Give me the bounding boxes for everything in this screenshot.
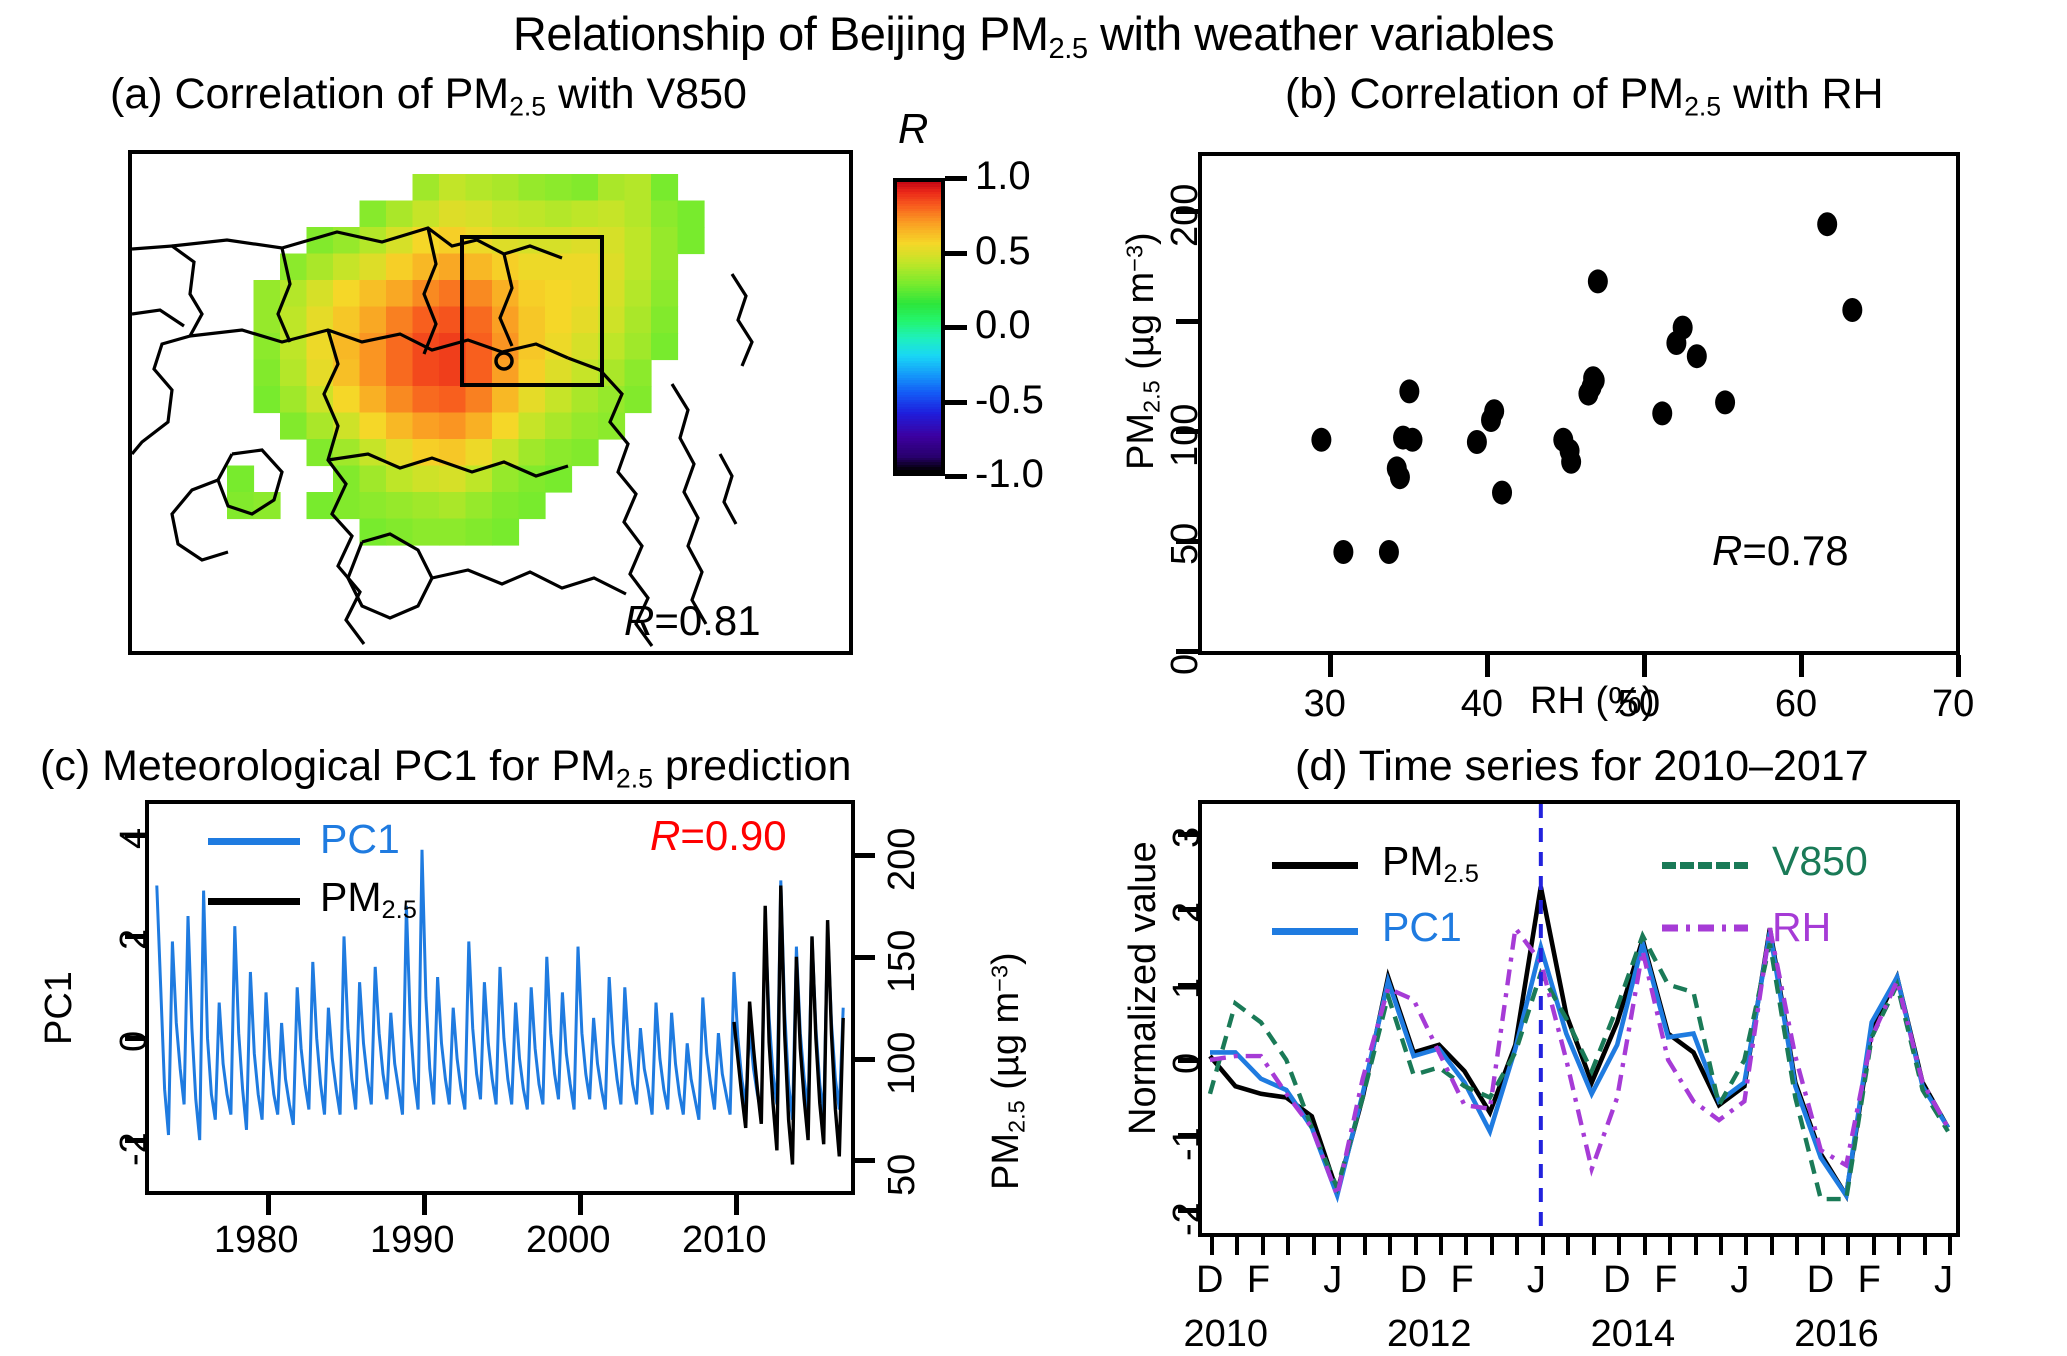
panel-c-xtick xyxy=(578,1195,583,1215)
panel-b-xtick-label: 30 xyxy=(1304,683,1346,726)
panel-d-year-label: 2016 xyxy=(1794,1313,1879,1356)
panel-c-ytick-label: 4 xyxy=(113,827,156,848)
panel-c-ylabel: PC1 xyxy=(38,971,81,1045)
panel-b-xlabel: RH (%) xyxy=(1530,680,1655,723)
panel-d-month-label: D xyxy=(1400,1259,1427,1302)
panel-d-xtick xyxy=(1770,1237,1774,1255)
panel-b-ylabel: PM2.5 (µg m−3) xyxy=(1120,232,1166,470)
panel-d-title: (d) Time series for 2010–2017 xyxy=(1295,742,1869,791)
panel-d-month-label: D xyxy=(1807,1259,1834,1302)
panel-c-y2label: PM2.5 (µg m−3) xyxy=(985,952,1031,1190)
panel-c-xtick xyxy=(422,1195,427,1215)
panel-d-month-label: F xyxy=(1247,1259,1270,1302)
panel-d-xtick xyxy=(1923,1237,1927,1255)
panel-d-month-label: F xyxy=(1450,1259,1473,1302)
figure-title-subscript: 2.5 xyxy=(1049,33,1088,65)
panel-d-month-label: J xyxy=(1934,1259,1953,1302)
panel-d-ylabel: Normalized value xyxy=(1122,841,1165,1135)
panel-d-xtick xyxy=(1668,1237,1672,1255)
panel-d-ytick-label: 3 xyxy=(1166,827,1209,848)
panel-d-xtick xyxy=(1566,1237,1570,1255)
panel-c-xtick xyxy=(734,1195,739,1215)
panel-b-xtick-label: 70 xyxy=(1932,683,1974,726)
panel-b-ytick xyxy=(1176,319,1198,324)
panel-c-ytick-label: -2 xyxy=(113,1132,156,1166)
panel-c-y2tick xyxy=(855,853,875,858)
panel-d-xtick xyxy=(1388,1237,1392,1255)
panel-c-xtick-label: 2000 xyxy=(526,1219,611,1262)
panel-d-month-label: J xyxy=(1323,1259,1342,1302)
panel-d-month-label: J xyxy=(1730,1259,1749,1302)
panel-a-map[interactable] xyxy=(128,150,853,655)
panel-a-r-annotation: R=0.81 xyxy=(624,597,761,645)
panel-b-xtick xyxy=(1328,655,1333,677)
panel-c-r-annotation: R=0.90 xyxy=(650,812,787,860)
panel-d-legend-label-pc1: PC1 xyxy=(1382,904,1462,951)
colorbar-tick xyxy=(945,400,967,405)
panel-d-xtick xyxy=(1643,1237,1647,1255)
scatter-svg xyxy=(1202,156,1956,651)
panel-d-ytick-label: -2 xyxy=(1166,1203,1209,1237)
panel-d-xtick xyxy=(1541,1237,1545,1255)
panel-d-xtick xyxy=(1210,1237,1214,1255)
panel-c-y2tick-label: 50 xyxy=(881,1154,924,1196)
panel-b-xtick-label: 60 xyxy=(1775,683,1817,726)
panel-d-month-label: F xyxy=(1654,1259,1677,1302)
panel-b-scatter[interactable] xyxy=(1198,152,1960,655)
panel-c-ytick-label: 0 xyxy=(113,1031,156,1052)
panel-d-xtick xyxy=(1464,1237,1468,1255)
panel-d-year-label: 2014 xyxy=(1591,1313,1676,1356)
panel-d-xtick xyxy=(1719,1237,1723,1255)
colorbar-tick xyxy=(945,474,967,479)
panel-d-legend-line-rh xyxy=(1662,862,1748,934)
panel-d-xtick xyxy=(1439,1237,1443,1255)
panel-b-xtick xyxy=(1642,655,1647,677)
panel-d-xtick xyxy=(1286,1237,1290,1255)
panel-d-year-label: 2012 xyxy=(1387,1313,1472,1356)
panel-c-y2tick-label: 150 xyxy=(881,929,924,992)
panel-b-xtick xyxy=(1799,655,1804,677)
panel-d-month-label: D xyxy=(1196,1259,1223,1302)
panel-b-title: (b) Correlation of PM2.5 with RH xyxy=(1285,70,1884,122)
panel-d-xtick xyxy=(1897,1237,1901,1255)
panel-d-xtick xyxy=(1795,1237,1799,1255)
colorbar-segment xyxy=(897,470,941,473)
figure-title-prefix: Relationship of Beijing PM xyxy=(513,7,1049,60)
panel-b-ytick-label: 50 xyxy=(1164,523,1207,565)
panel-d-legend-label-rh: RH xyxy=(1772,904,1831,951)
colorbar-tick-label: 1.0 xyxy=(975,154,1031,199)
panel-c-xtick-label: 1990 xyxy=(370,1219,455,1262)
panel-d-month-label: F xyxy=(1858,1259,1881,1302)
panel-d-xtick xyxy=(1490,1237,1494,1255)
panel-d-year-label: 2010 xyxy=(1183,1313,1268,1356)
panel-d-ytick-label: 1 xyxy=(1166,977,1209,998)
panel-c-xtick-label: 1980 xyxy=(214,1219,299,1262)
panel-d-legend-label-v850: V850 xyxy=(1772,838,1868,885)
panel-b-ytick-label: 0 xyxy=(1164,654,1207,675)
panel-a-title: (a) Correlation of PM2.5 with V850 xyxy=(110,70,747,122)
panel-b-xtick-label: 40 xyxy=(1461,683,1503,726)
pc1-timeseries-svg xyxy=(149,804,851,1191)
panel-d-xtick xyxy=(1872,1237,1876,1255)
colorbar-tick-label: -0.5 xyxy=(975,378,1044,423)
panel-d-month-label: D xyxy=(1603,1259,1630,1302)
panel-d-xtick xyxy=(1235,1237,1239,1255)
panel-d-xtick xyxy=(1363,1237,1367,1255)
panel-d-xtick xyxy=(1337,1237,1341,1255)
colorbar xyxy=(893,178,945,476)
panel-c-y2tick-label: 100 xyxy=(881,1031,924,1094)
panel-c-legend-label-pm25: PM2.5 xyxy=(320,874,417,925)
panel-d-xtick xyxy=(1592,1237,1596,1255)
panel-d-xtick xyxy=(1744,1237,1748,1255)
panel-d-legend-label-pm25: PM2.5 xyxy=(1382,838,1479,889)
panel-b-xtick xyxy=(1956,655,1961,677)
colorbar-tick xyxy=(945,251,967,256)
panel-c-y2tick xyxy=(855,1158,875,1163)
colorbar-label: R xyxy=(898,105,928,153)
panel-b-ytick-label: 200 xyxy=(1164,184,1207,247)
panel-d-xtick xyxy=(1617,1237,1621,1255)
colorbar-tick-label: 0.5 xyxy=(975,229,1031,274)
panel-b-xtick xyxy=(1485,655,1490,677)
scatter-points xyxy=(1311,212,1862,564)
colorbar-tick xyxy=(945,325,967,330)
panel-d-ytick-label: 0 xyxy=(1166,1053,1209,1074)
panel-c-y2tick xyxy=(855,955,875,960)
panel-b-ytick-label: 100 xyxy=(1164,404,1207,467)
correlation-map-svg xyxy=(132,154,849,651)
panel-d-xtick xyxy=(1694,1237,1698,1255)
panel-d-month-label: J xyxy=(1527,1259,1546,1302)
figure-root: Relationship of Beijing PM2.5 with weath… xyxy=(0,0,2067,1351)
panel-c-y2tick xyxy=(855,1057,875,1062)
panel-d-ytick-label: -1 xyxy=(1166,1127,1209,1161)
panel-d-xtick xyxy=(1414,1237,1418,1255)
panel-c-title: (c) Meteorological PC1 for PM2.5 predict… xyxy=(40,742,851,794)
panel-d-xtick xyxy=(1261,1237,1265,1255)
pm25-line xyxy=(734,886,843,1165)
figure-title-suffix: with weather variables xyxy=(1088,7,1555,60)
panel-d-legend-line-pc1 xyxy=(1272,928,1358,935)
panel-d-xtick xyxy=(1846,1237,1850,1255)
panel-d-legend-line-pm25 xyxy=(1272,862,1358,869)
figure-title: Relationship of Beijing PM2.5 with weath… xyxy=(0,6,2067,66)
panel-c-xtick xyxy=(266,1195,271,1215)
panel-c-y2tick-label: 200 xyxy=(881,828,924,891)
panel-b-r-annotation: R=0.78 xyxy=(1712,527,1849,575)
panel-d-xtick xyxy=(1821,1237,1825,1255)
panel-c-xtick-label: 2010 xyxy=(682,1219,767,1262)
panel-c-legend-label-pc1: PC1 xyxy=(320,816,400,863)
colorbar-tick-label: -1.0 xyxy=(975,452,1044,497)
panel-d-xtick xyxy=(1948,1237,1952,1255)
panel-c-ytick-label: 2 xyxy=(113,929,156,950)
panel-d-xtick xyxy=(1312,1237,1316,1255)
panel-c-legend-line-pm25 xyxy=(208,898,300,905)
colorbar-tick xyxy=(945,176,967,181)
panel-d-ytick-label: 2 xyxy=(1166,902,1209,923)
colorbar-tick-label: 0.0 xyxy=(975,303,1031,348)
panel-c-legend-line-pc1 xyxy=(208,838,300,845)
panel-d-xtick xyxy=(1515,1237,1519,1255)
